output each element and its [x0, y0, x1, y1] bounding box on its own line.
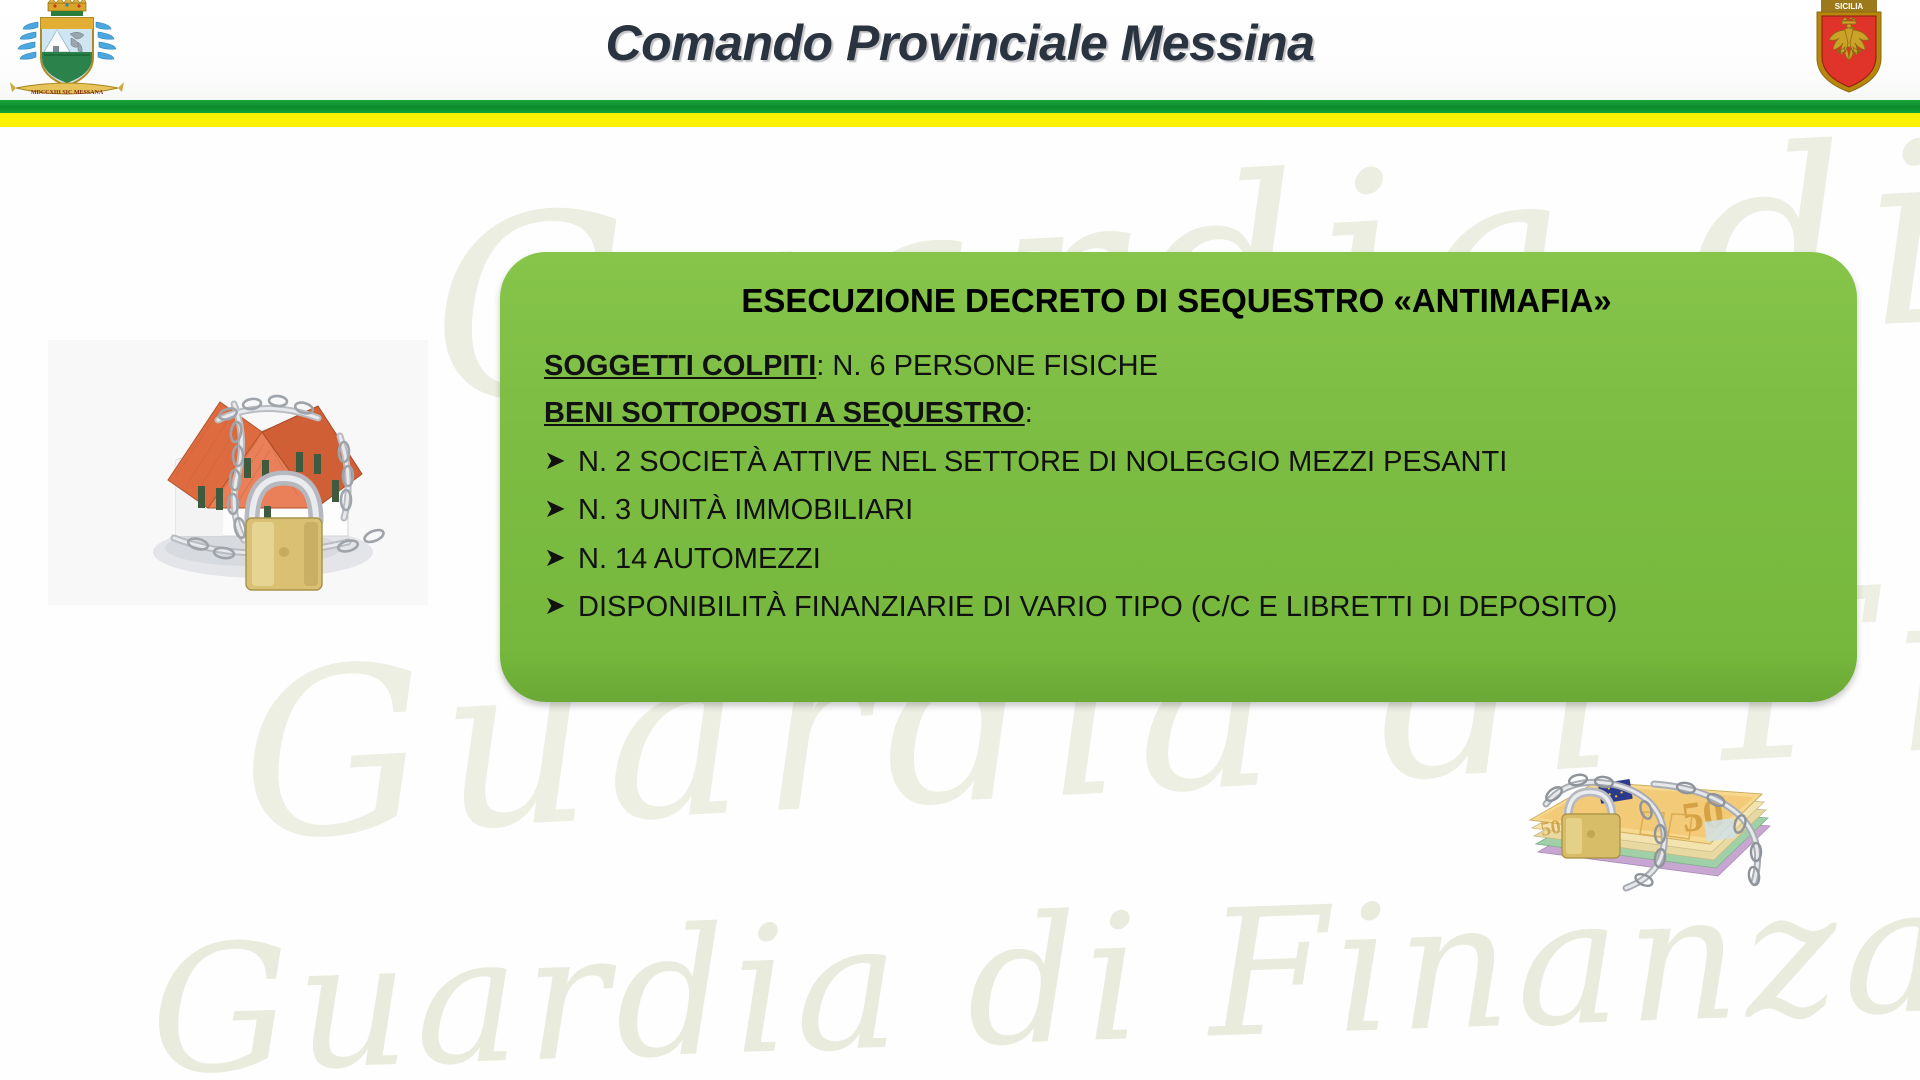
list-item: ➤ N. 2 SOCIETÀ ATTIVE NEL SETTORE DI NOL… [544, 444, 1831, 480]
crest-motto-text: MDCCXIII SIC MESSANA [31, 90, 104, 96]
regione-siciliana-crest-icon: SICILIA [1797, 0, 1901, 100]
crest-region-label: SICILIA [1835, 2, 1864, 11]
page-title: Comando Provinciale Messina [0, 14, 1920, 72]
field-beni-sottoposti-label: BENI SOTTOPOSTI A SEQUESTRO [544, 397, 1025, 429]
field-soggetti-colpiti-value: : N. 6 PERSONE FISICHE [816, 350, 1158, 382]
seized-assets-list: ➤ N. 2 SOCIETÀ ATTIVE NEL SETTORE DI NOL… [522, 444, 1831, 625]
field-beni-sottoposti-value: : [1025, 397, 1033, 429]
chained-house-with-padlock-photo [48, 340, 428, 605]
field-beni-sottoposti: BENI SOTTOPOSTI A SEQUESTRO: [544, 397, 1831, 430]
list-item-text: N. 14 AUTOMEZZI [578, 541, 821, 577]
list-item: ➤ DISPONIBILITÀ FINANZIARIE DI VARIO TIP… [544, 589, 1831, 625]
content-panel: ESECUZIONE DECRETO DI SEQUESTRO «ANTIMAF… [500, 252, 1857, 702]
header-bar: Comando Provinciale Messina [0, 0, 1920, 100]
banknote-denomination-text-left: 50 [1539, 816, 1563, 841]
bullet-arrow-icon: ➤ [544, 541, 578, 574]
bullet-arrow-icon: ➤ [544, 444, 578, 477]
list-item-text: N. 2 SOCIETÀ ATTIVE NEL SETTORE DI NOLEG… [578, 444, 1507, 480]
comune-di-messina-crest-icon: MDCCXIII SIC MESSANA [8, 0, 126, 100]
bullet-arrow-icon: ➤ [544, 589, 578, 622]
list-item: ➤ N. 14 AUTOMEZZI [544, 541, 1831, 577]
bullet-arrow-icon: ➤ [544, 492, 578, 525]
chained-euro-banknotes-photo: 50 50 [1508, 748, 1798, 918]
header-divider-green [0, 100, 1920, 113]
field-soggetti-colpiti: SOGGETTI COLPITI: N. 6 PERSONE FISICHE [544, 350, 1831, 383]
field-soggetti-colpiti-label: SOGGETTI COLPITI [544, 350, 816, 382]
slide-root: Guardia di Finanza Guardia di Finanza Gu… [0, 0, 1920, 1080]
list-item: ➤ N. 3 UNITÀ IMMOBILIARI [544, 492, 1831, 528]
panel-title: ESECUZIONE DECRETO DI SEQUESTRO «ANTIMAF… [522, 282, 1831, 320]
header-divider-yellow [0, 113, 1920, 127]
list-item-text: DISPONIBILITÀ FINANZIARIE DI VARIO TIPO … [578, 589, 1617, 625]
list-item-text: N. 3 UNITÀ IMMOBILIARI [578, 492, 913, 528]
